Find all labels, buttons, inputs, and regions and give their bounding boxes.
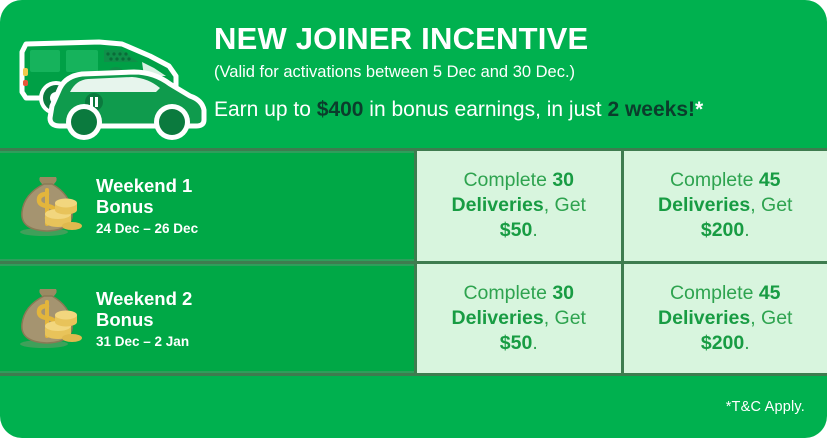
weekend-2-label-cell: Weekend 2 Bonus 31 Dec – 2 Jan — [0, 264, 414, 374]
banner-footer: *T&C Apply. — [0, 376, 827, 438]
tagline-part1: Earn up to — [214, 98, 317, 121]
weekend-2-title-line1: Weekend 2 — [96, 288, 192, 309]
offer-suffix: . — [532, 219, 537, 241]
bonus-table: Weekend 1 Bonus 24 Dec – 26 Dec Complete… — [0, 148, 827, 376]
weekend-2-title-line2: Bonus — [96, 309, 192, 330]
offer-suffix: . — [532, 332, 537, 354]
weekend-1-text: Weekend 1 Bonus 24 Dec – 26 Dec — [96, 175, 198, 236]
tagline-part2: in bonus earnings, in just — [363, 98, 607, 121]
offer-suffix: . — [744, 332, 749, 354]
offer-middle: , Get — [544, 194, 586, 216]
offer-text: Complete 30 Deliveries, Get $50. — [433, 281, 605, 356]
weekend-2-offer-1: Complete 30 Deliveries, Get $50. — [417, 264, 621, 374]
weekend-1-label-cell: Weekend 1 Bonus 24 Dec – 26 Dec — [0, 151, 414, 261]
weekend-1-title-line1: Weekend 1 — [96, 175, 198, 196]
offer-text: Complete 45 Deliveries, Get $200. — [640, 168, 812, 243]
offer-prefix: Complete — [670, 282, 759, 304]
money-bag-icon — [14, 170, 86, 242]
offer-prefix: Complete — [463, 282, 552, 304]
offer-reward: $200 — [701, 332, 744, 354]
offer-middle: , Get — [544, 307, 586, 329]
weekend-1-offer-1: Complete 30 Deliveries, Get $50. — [417, 151, 621, 261]
offer-reward: $50 — [500, 219, 533, 241]
offer-reward: $50 — [500, 332, 533, 354]
offer-reward: $200 — [701, 219, 744, 241]
tagline-asterisk: * — [695, 98, 703, 121]
weekend-2-text: Weekend 2 Bonus 31 Dec – 2 Jan — [96, 288, 192, 349]
weekend-2-dates: 31 Dec – 2 Jan — [96, 334, 192, 349]
terms-and-conditions-note: *T&C Apply. — [726, 399, 805, 415]
offer-text: Complete 30 Deliveries, Get $50. — [433, 168, 605, 243]
new-joiner-incentive-banner: NEW JOINER INCENTIVE (Valid for activati… — [0, 0, 827, 438]
money-bag-icon — [14, 282, 86, 354]
offer-middle: , Get — [750, 307, 792, 329]
weekend-1-offer-2: Complete 45 Deliveries, Get $200. — [624, 151, 827, 261]
offer-suffix: . — [744, 219, 749, 241]
offer-middle: , Get — [750, 194, 792, 216]
banner-header: NEW JOINER INCENTIVE (Valid for activati… — [0, 0, 827, 148]
table-row: Weekend 1 Bonus 24 Dec – 26 Dec Complete… — [0, 151, 827, 261]
weekend-1-title-line2: Bonus — [96, 196, 198, 217]
offer-prefix: Complete — [463, 169, 552, 191]
tagline: Earn up to $400 in bonus earnings, in ju… — [214, 97, 814, 122]
delivery-van-and-car-icon — [4, 14, 214, 140]
weekend-2-offer-2: Complete 45 Deliveries, Get $200. — [624, 264, 827, 374]
offer-text: Complete 45 Deliveries, Get $200. — [640, 281, 812, 356]
page-title: NEW JOINER INCENTIVE — [214, 22, 814, 57]
validity-subtitle: (Valid for activations between 5 Dec and… — [214, 63, 814, 83]
tagline-duration: 2 weeks! — [607, 98, 695, 121]
offer-prefix: Complete — [670, 169, 759, 191]
header-text-block: NEW JOINER INCENTIVE (Valid for activati… — [214, 22, 814, 122]
tagline-amount: $400 — [317, 98, 364, 121]
table-row: Weekend 2 Bonus 31 Dec – 2 Jan Complete … — [0, 264, 827, 374]
weekend-1-dates: 24 Dec – 26 Dec — [96, 221, 198, 236]
